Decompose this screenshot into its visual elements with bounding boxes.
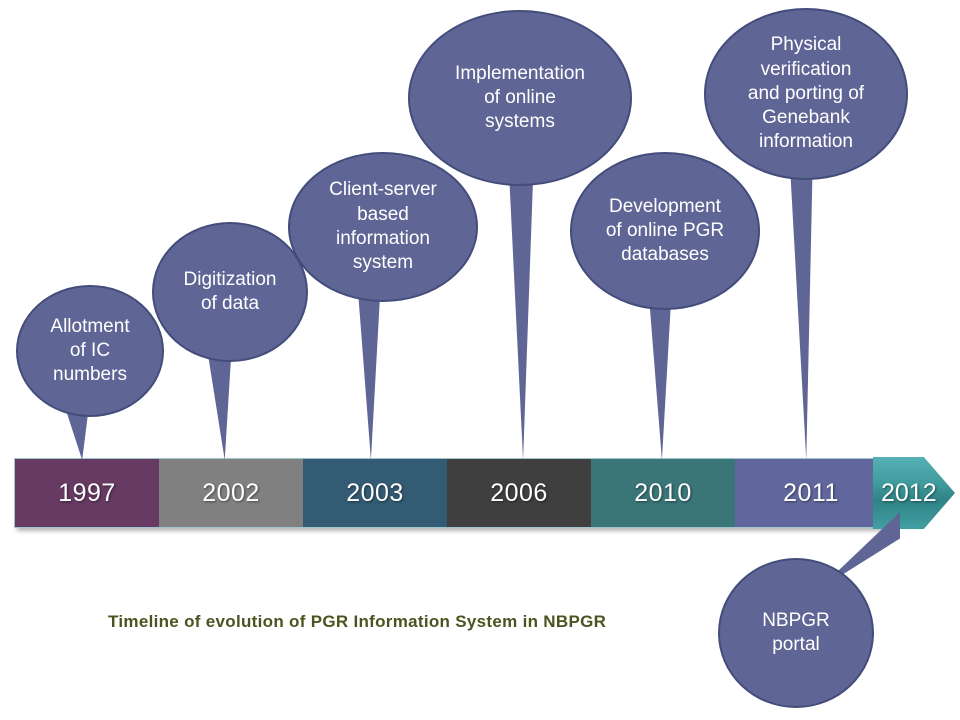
segment-year-label: 2010 — [634, 479, 692, 508]
segment-year-label: 2002 — [202, 479, 260, 508]
timeline-segment-2003[interactable]: 2003 — [303, 459, 447, 527]
timeline-segment-2006[interactable]: 2006 — [447, 459, 591, 527]
diagram-caption: Timeline of evolution of PGR Information… — [108, 612, 606, 632]
milestone-label: Implementation of online systems — [445, 62, 595, 135]
timeline-diagram: Allotment of IC numbers Digitization of … — [0, 0, 960, 720]
milestone-balloon-1997[interactable]: Allotment of IC numbers — [16, 285, 164, 417]
milestone-balloon-2010[interactable]: Development of online PGR databases — [570, 152, 760, 310]
segment-year-label: 2011 — [783, 479, 839, 508]
timeline-bar: 1997 2002 2003 2006 2010 2011 — [14, 458, 888, 528]
segment-year-label: 1997 — [58, 479, 116, 508]
milestone-label: Physical verification and porting of Gen… — [738, 33, 874, 155]
balloon-tail-2011 — [789, 148, 813, 460]
timeline-segment-2002[interactable]: 2002 — [159, 459, 303, 527]
milestone-label: Client-server based information system — [319, 178, 447, 275]
milestone-balloon-2003[interactable]: Client-server based information system — [288, 152, 478, 302]
timeline-segment-1997[interactable]: 1997 — [15, 459, 159, 527]
milestone-balloon-2012[interactable]: NBPGR portal — [718, 558, 874, 708]
milestone-label: Digitization of data — [174, 268, 287, 317]
milestone-label: Development of online PGR databases — [596, 195, 734, 268]
balloon-tail-2010 — [648, 284, 672, 460]
milestone-balloon-2006[interactable]: Implementation of online systems — [408, 10, 632, 186]
milestone-label: Allotment of IC numbers — [40, 315, 139, 388]
segment-year-label: 2006 — [490, 479, 548, 508]
timeline-segment-2011[interactable]: 2011 — [735, 459, 887, 527]
balloon-tail-2003 — [357, 278, 381, 460]
timeline-segment-2012-arrow[interactable]: 2012 — [873, 457, 955, 529]
timeline-segment-2010[interactable]: 2010 — [591, 459, 735, 527]
milestone-balloon-2011[interactable]: Physical verification and porting of Gen… — [704, 8, 908, 180]
segment-year-label: 2012 — [881, 479, 937, 508]
milestone-balloon-2002[interactable]: Digitization of data — [152, 222, 308, 362]
milestone-label: NBPGR portal — [752, 609, 840, 658]
balloon-tail-2006 — [508, 152, 534, 460]
segment-year-label: 2003 — [346, 479, 404, 508]
